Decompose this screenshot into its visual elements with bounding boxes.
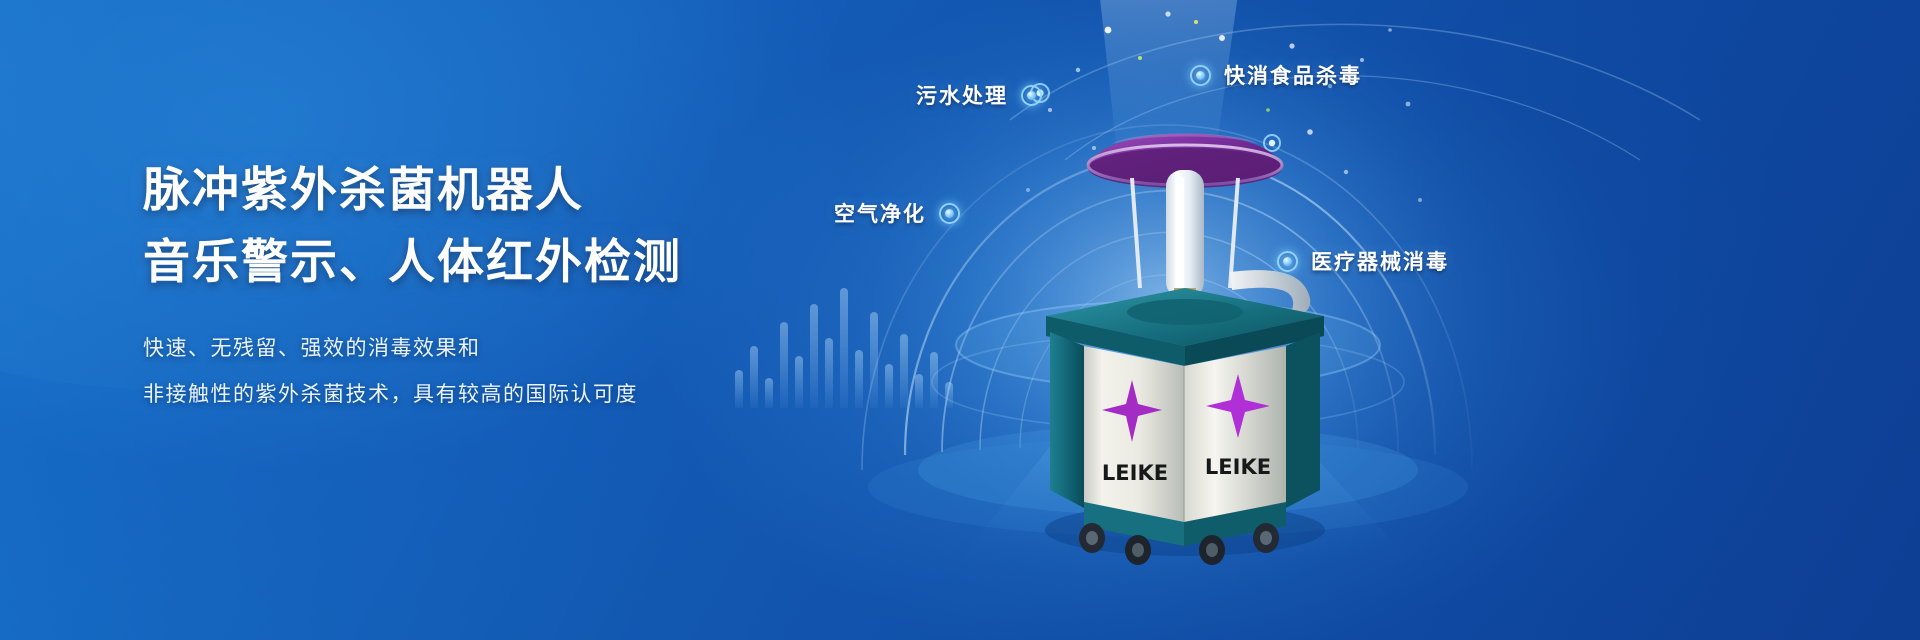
node-dot-icon <box>1021 85 1042 106</box>
headline-line-2: 音乐警示、人体红外检测 <box>143 227 783 299</box>
callout-wastewater-label: 污水处理 <box>916 80 1008 110</box>
callout-food-label: 快消食品杀毒 <box>1224 60 1362 90</box>
uv-disinfection-robot-illustration: LEIKE LEIKE <box>980 60 1400 590</box>
callout-air[interactable]: 空气净化 <box>834 198 960 228</box>
callout-wastewater[interactable]: 污水处理 <box>916 80 1042 110</box>
callout-food[interactable]: 快消食品杀毒 <box>1190 60 1362 90</box>
headline-line-1: 脉冲紫外杀菌机器人 <box>143 155 783 227</box>
subcopy-line-2: 非接触性的紫外杀菌技术，具有较高的国际认可度 <box>143 371 783 417</box>
callout-medical[interactable]: 医疗器械消毒 <box>1277 246 1449 276</box>
callout-air-label: 空气净化 <box>834 198 926 228</box>
brand-label-right: LEIKE <box>1205 455 1271 479</box>
brand-label-left: LEIKE <box>1102 461 1168 485</box>
subcopy-line-1: 快速、无残留、强效的消毒效果和 <box>143 325 783 371</box>
callout-medical-label: 医疗器械消毒 <box>1311 246 1449 276</box>
uv-tube <box>1166 170 1204 302</box>
banner-text-block: 脉冲紫外杀菌机器人 音乐警示、人体红外检测 快速、无残留、强效的消毒效果和 非接… <box>143 155 783 417</box>
node-dot-icon <box>1190 65 1211 86</box>
node-dot-icon <box>939 203 960 224</box>
node-dot-icon <box>1277 251 1298 272</box>
promo-banner: LEIKE LEIKE 污水处理 快消食品杀毒 空气净化 医疗器械消毒 脉冲紫外… <box>0 0 1920 640</box>
